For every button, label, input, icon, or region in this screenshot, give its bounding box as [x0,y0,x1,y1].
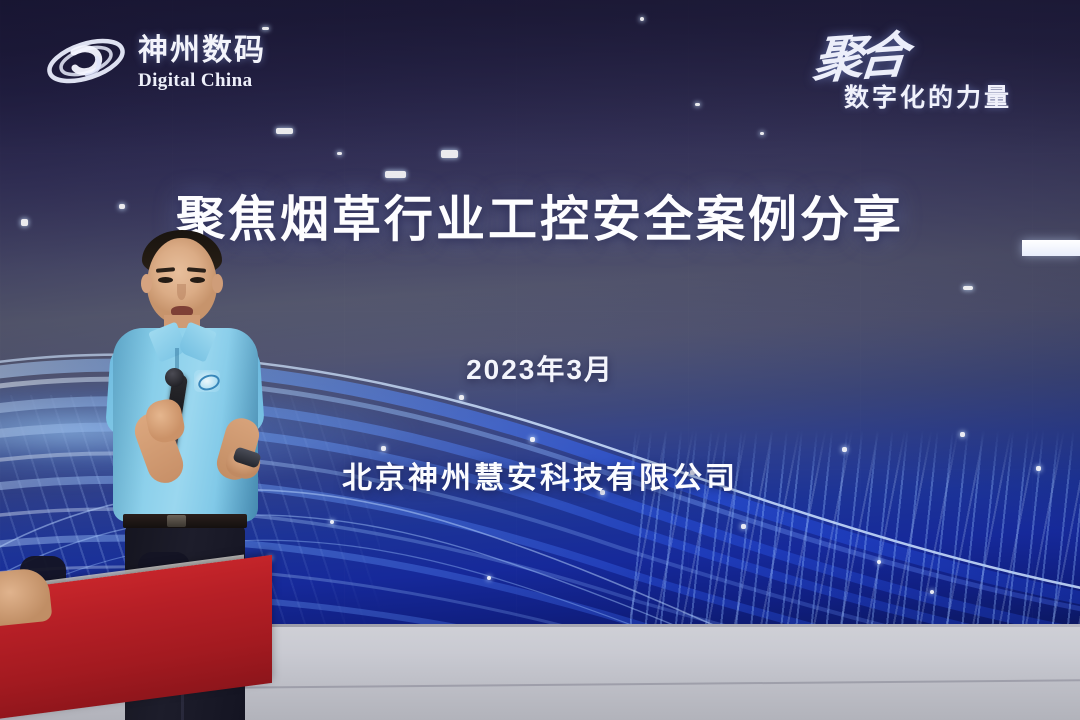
digital-china-wordmark: 神州数码 Digital China [138,33,266,90]
speaker-chest-logo-icon [194,370,220,392]
speaker-belt-buckle [167,515,186,527]
speaker-ear-right [212,274,223,293]
speaker-ear-left [141,274,152,293]
juhe-logo: 聚合 数字化的力量 [792,16,1060,116]
digital-china-spiral-icon [44,30,128,92]
digital-china-logo: 神州数码 Digital China [44,22,306,100]
juhe-subtitle: 数字化的力量 [844,78,1012,114]
digital-china-english: Digital China [138,71,266,90]
speaker-eye-left [158,277,173,283]
screen-edge-highlight [1022,240,1080,256]
conference-stage-photo: 神州数码 Digital China 聚合 数字化的力量 聚焦烟草行业工控安全案… [0,0,1080,720]
speaker-nose [177,284,186,300]
foreground-conference-table [0,560,280,720]
digital-china-chinese: 神州数码 [138,36,266,66]
speaker-eye-right [190,277,205,283]
